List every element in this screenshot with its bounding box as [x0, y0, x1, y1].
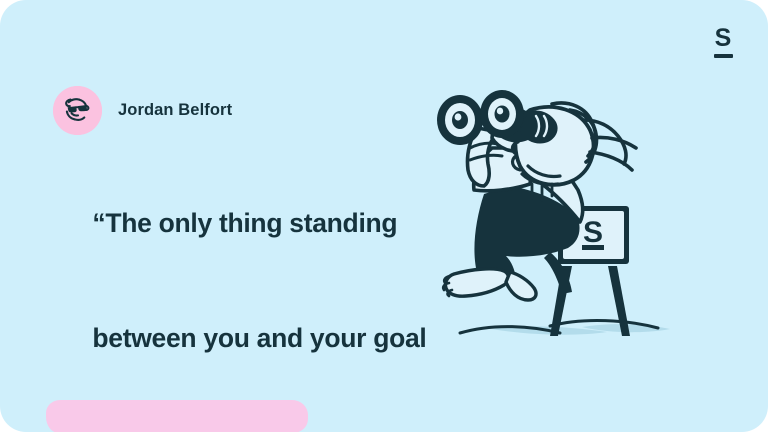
- author-row: Jordan Belfort: [53, 86, 232, 135]
- svg-text:S: S: [583, 216, 603, 249]
- binoculars: [437, 90, 558, 145]
- s-underline-logo: S: [706, 22, 740, 62]
- logo-letter: S: [715, 26, 732, 51]
- logo-underline-bar: [714, 54, 733, 58]
- quote-block: “The only thing standing between you and…: [50, 166, 430, 432]
- feet: [443, 269, 536, 300]
- quote-line: between you and your goal: [50, 281, 430, 395]
- quote-card: S: [0, 0, 768, 432]
- person-with-binoculars-illustration: S: [432, 86, 692, 348]
- quote-line-highlighted: is the story you keep: [50, 396, 430, 432]
- author-name: Jordan Belfort: [118, 101, 232, 120]
- highlight-marker: [46, 400, 308, 432]
- face-with-sunglasses-avatar: [53, 86, 102, 135]
- quote-line: “The only thing standing: [50, 166, 430, 280]
